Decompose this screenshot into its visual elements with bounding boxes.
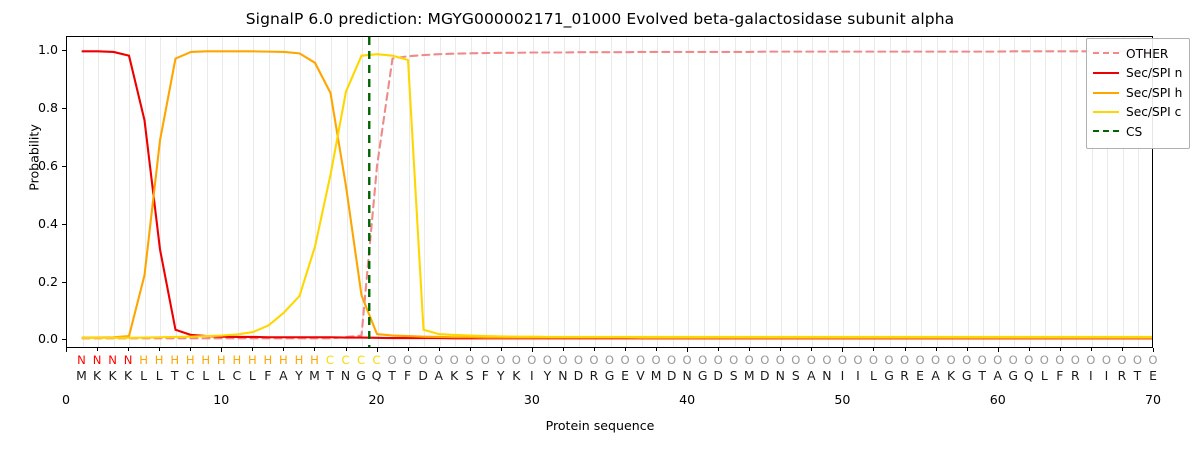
x-tick-mark [1153,348,1154,352]
x-tick-mark [439,348,440,351]
x-tick-mark [532,348,533,352]
x-tick-label: 30 [512,392,552,407]
legend-swatch [1093,68,1119,78]
legend-label: Sec/SPI h [1126,86,1182,100]
x-tick-mark [594,348,595,351]
x-tick-mark [967,348,968,351]
y-tick-label: 0.0 [12,331,58,346]
x-tick-mark [873,348,874,351]
x-tick-mark [97,348,98,351]
legend-item: Sec/SPI n [1093,64,1183,84]
x-tick-mark [190,348,191,351]
x-tick-mark [656,348,657,351]
curve-sec-spi-c [83,54,1152,338]
x-tick-mark [346,348,347,351]
signalp-prediction-figure: SignalP 6.0 prediction: MGYG000002171_01… [0,0,1200,450]
legend-swatch [1093,88,1119,98]
legend-item: CS [1093,122,1183,142]
x-tick-mark [221,348,222,352]
x-tick-mark [998,348,999,352]
x-tick-mark [501,348,502,351]
legend-swatch [1093,107,1119,117]
amino-acid-residue: E [1144,368,1162,384]
x-tick-mark [687,348,688,352]
x-tick-mark [470,348,471,351]
legend: OTHERSec/SPI nSec/SPI hSec/SPI cCS [1086,38,1190,149]
y-tick-label: 1.0 [12,42,58,57]
x-tick-mark [377,348,378,352]
x-tick-mark [408,348,409,351]
curve-layer [67,37,1152,347]
x-tick-label: 70 [1133,392,1173,407]
legend-label: OTHER [1126,47,1168,61]
x-tick-mark [1091,348,1092,351]
legend-swatch [1093,49,1119,59]
y-tick-label: 0.2 [12,274,58,289]
x-tick-mark [283,348,284,351]
curve-sec-spi-n [83,51,1152,338]
x-tick-mark [1029,348,1030,351]
region-label-o: O [1144,353,1162,368]
legend-label: Sec/SPI c [1126,105,1181,119]
legend-label: Sec/SPI n [1126,66,1182,80]
x-tick-mark [1060,348,1061,351]
x-tick-mark [252,348,253,351]
x-tick-mark [1122,348,1123,351]
page-title: SignalP 6.0 prediction: MGYG000002171_01… [0,10,1200,28]
x-tick-mark [563,348,564,351]
x-tick-label: 0 [46,392,86,407]
x-tick-mark [842,348,843,352]
x-tick-label: 20 [357,392,397,407]
x-tick-label: 10 [201,392,241,407]
y-tick-label: 0.8 [12,100,58,115]
x-tick-mark [128,348,129,351]
legend-item: OTHER [1093,44,1183,64]
x-tick-mark [905,348,906,351]
curve-other [83,51,1152,338]
x-tick-mark [718,348,719,351]
x-tick-mark [625,348,626,351]
x-tick-mark [314,348,315,351]
plot-area [66,36,1153,348]
legend-item: Sec/SPI h [1093,83,1183,103]
curve-sec-spi-h [83,51,1152,337]
legend-item: Sec/SPI c [1093,103,1183,123]
legend-label: CS [1126,125,1142,139]
x-tick-label: 40 [667,392,707,407]
x-tick-mark [159,348,160,351]
x-tick-label: 60 [978,392,1018,407]
y-tick-label: 0.6 [12,158,58,173]
x-tick-mark [66,348,67,352]
x-tick-mark [936,348,937,351]
y-tick-label: 0.4 [12,216,58,231]
x-axis-label: Protein sequence [0,418,1200,433]
x-tick-mark [811,348,812,351]
x-tick-label: 50 [822,392,862,407]
x-tick-mark [749,348,750,351]
x-tick-mark [780,348,781,351]
legend-swatch [1093,127,1119,137]
